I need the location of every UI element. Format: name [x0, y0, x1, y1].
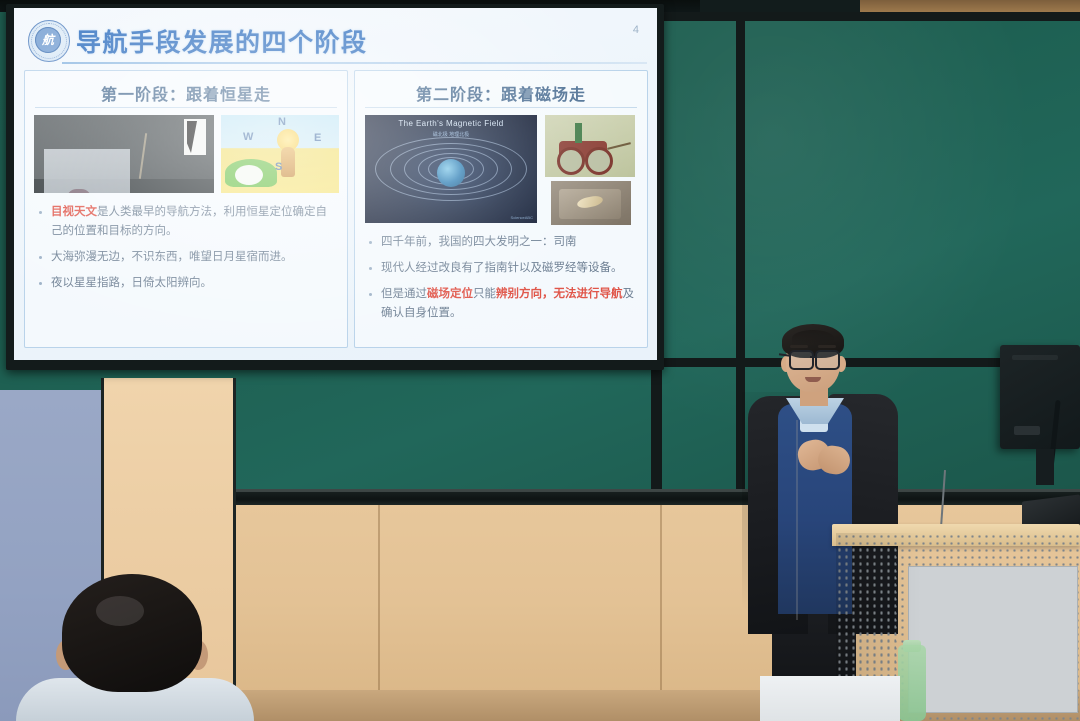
cartoon-figure [281, 147, 295, 177]
night-figure [66, 189, 92, 193]
audience-hair-highlight [96, 596, 144, 626]
wall-panel-edge-right [233, 378, 236, 690]
glasses-lens-right [815, 350, 840, 370]
sinan-compass-photo [551, 181, 631, 225]
chalkboard-frame-top [651, 12, 1080, 21]
bullet-highlight: 磁场定位 [427, 288, 473, 300]
stage-one-panel: 第一阶段：跟着恒星走 N W E S [24, 70, 348, 348]
speaker-eyebrow-left [790, 345, 808, 348]
earth-magnetic-field-diagram: The Earth's Magnetic Field 磁北极 地理北极 Scie… [365, 115, 537, 223]
wainscot-seam [660, 505, 662, 721]
chariot-wheel [557, 147, 585, 175]
magnetic-field-caption: The Earth's Magnetic Field [365, 119, 537, 128]
list-item: 夜以星星指路，日倚太阳辨向。 [37, 274, 337, 293]
night-sky-photo [34, 115, 214, 193]
monitor-vent [1012, 355, 1058, 360]
speaker-hairline [792, 330, 834, 346]
glasses-bridge [810, 356, 816, 358]
night-pole [139, 133, 147, 179]
logo-inner-disc: 航 [35, 27, 61, 53]
stage-one-bullets: 目视天文是人类最早的导航方法，利用恒星定位确定自己的位置和目标的方向。 大海弥漫… [37, 203, 337, 300]
logo-monogram: 航 [35, 30, 61, 50]
front-desk-surface [760, 676, 900, 721]
diagram-credit: ScienceABC [511, 215, 533, 220]
bullet-text-mid: 只能 [473, 288, 496, 300]
wainscot-seam [378, 505, 380, 721]
chariot-pole [607, 142, 631, 150]
stage-two-bullets: 四千年前，我国的四大发明之一：司南 现代人经过改良有了指南针以及磁罗经等设备。 … [367, 233, 637, 330]
display-monitor [1000, 345, 1080, 449]
list-item: 大海弥漫无边，不识东西，唯望日月星宿而进。 [37, 248, 337, 267]
stage-one-header-rule [35, 107, 337, 108]
stage-two-header: 第二阶段：跟着磁场走 [355, 81, 647, 105]
slide-page-number: 4 [633, 24, 639, 36]
title-underline [62, 62, 647, 64]
glasses-lens-left [789, 350, 814, 370]
speaker-eyebrow-right [818, 345, 836, 348]
chariot-wheel [585, 147, 613, 175]
compass-label-east: E [314, 132, 321, 144]
speaker-mouth [805, 377, 821, 382]
list-item: 目视天文是人类最早的导航方法，利用恒星定位确定自己的位置和目标的方向。 [37, 203, 337, 241]
lecture-room-scene: 航 导航手段发展的四个阶段 4 第一阶段：跟着恒星走 [0, 0, 1080, 721]
university-seal-logo: 航 [28, 20, 70, 62]
list-item: 四千年前，我国的四大发明之一：司南 [367, 233, 637, 252]
earth-globe [437, 159, 465, 187]
bullet-highlight-2: 辨别方向，无法进行导航 [496, 288, 623, 300]
compass-label-south: S [275, 161, 282, 173]
compass-cartoon: N W E S [221, 115, 339, 193]
bullet-highlight: 目视天文 [51, 206, 97, 218]
cartoon-cloud [235, 165, 263, 185]
slide-title: 导航手段发展的四个阶段 [76, 23, 368, 59]
list-item: 但是通过磁场定位只能辨别方向，无法进行导航及确认自身位置。 [367, 285, 637, 323]
water-bottle [898, 645, 926, 721]
night-card-inset [184, 119, 206, 155]
monitor-stand [1036, 449, 1054, 485]
bullet-text-pre: 但是通过 [381, 288, 427, 300]
chariot-pointer-figure [575, 123, 582, 143]
south-pointing-chariot-photo [545, 115, 635, 177]
stage-two-header-rule [365, 107, 637, 108]
projected-slide: 航 导航手段发展的四个阶段 4 第一阶段：跟着恒星走 [14, 8, 657, 360]
monitor-port-panel [1014, 426, 1040, 435]
compass-label-west: W [243, 131, 253, 143]
list-item: 现代人经过改良有了指南针以及磁罗经等设备。 [367, 259, 637, 278]
compass-label-north: N [278, 116, 286, 128]
night-person-inset [44, 149, 130, 193]
audience-member-head [62, 574, 202, 692]
stage-two-panel: 第二阶段：跟着磁场走 The Earth's Magnetic Field 磁北… [354, 70, 648, 348]
stage-one-header: 第一阶段：跟着恒星走 [25, 81, 347, 105]
